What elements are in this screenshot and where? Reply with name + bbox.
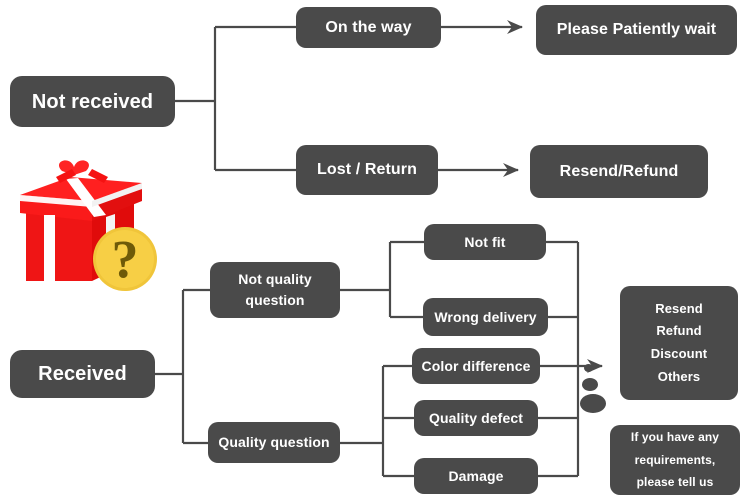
node-outcome-options[interactable]: Resend Refund Discount Others: [620, 286, 738, 400]
gift-box-question-icon: ?: [14, 155, 164, 295]
callout-line-2: requirements,: [635, 449, 716, 472]
bubble-tail-dot-small: [584, 364, 593, 372]
node-resend-refund[interactable]: Resend/Refund: [530, 145, 708, 198]
outcome-option-discount: Discount: [651, 343, 707, 366]
callout-line-3: please tell us: [637, 471, 714, 494]
node-not-quality-question[interactable]: Not quality question: [210, 262, 340, 318]
node-label: Quality question: [218, 432, 329, 453]
node-label: Lost / Return: [317, 158, 417, 182]
node-label: Please Patiently wait: [557, 18, 717, 42]
bubble-tail-dot-large: [580, 394, 606, 413]
node-label: Not received: [32, 87, 153, 117]
node-label: Quality defect: [429, 408, 523, 429]
callout-line-1: If you have any: [631, 426, 719, 449]
node-wrong-delivery[interactable]: Wrong delivery: [423, 298, 548, 336]
svg-text:?: ?: [112, 229, 139, 289]
node-label: Received: [38, 359, 127, 389]
outcome-option-refund: Refund: [656, 320, 701, 343]
node-received[interactable]: Received: [10, 350, 155, 398]
bubble-tail-dot-medium: [582, 378, 598, 391]
node-damage[interactable]: Damage: [414, 458, 538, 494]
node-label: Damage: [448, 466, 503, 487]
flowchart-canvas: ? Not received On the way Please Patient…: [0, 0, 750, 500]
node-label: Color difference: [422, 356, 531, 377]
outcome-option-resend: Resend: [655, 298, 703, 321]
outcome-option-others: Others: [658, 366, 701, 389]
node-label: Wrong delivery: [434, 307, 536, 328]
node-label: Resend/Refund: [560, 160, 679, 184]
node-label-line-2: question: [245, 290, 304, 311]
node-label: On the way: [325, 16, 411, 40]
node-on-the-way[interactable]: On the way: [296, 7, 441, 48]
node-requirements-callout[interactable]: If you have any requirements, please tel…: [610, 425, 740, 495]
node-not-received[interactable]: Not received: [10, 76, 175, 127]
node-lost-return[interactable]: Lost / Return: [296, 145, 438, 195]
node-quality-question[interactable]: Quality question: [208, 422, 340, 463]
node-not-fit[interactable]: Not fit: [424, 224, 546, 260]
node-label: Not fit: [464, 232, 505, 253]
node-label-line-1: Not quality: [238, 269, 311, 290]
node-please-patiently-wait[interactable]: Please Patiently wait: [536, 5, 737, 55]
node-color-difference[interactable]: Color difference: [412, 348, 540, 384]
node-quality-defect[interactable]: Quality defect: [414, 400, 538, 436]
